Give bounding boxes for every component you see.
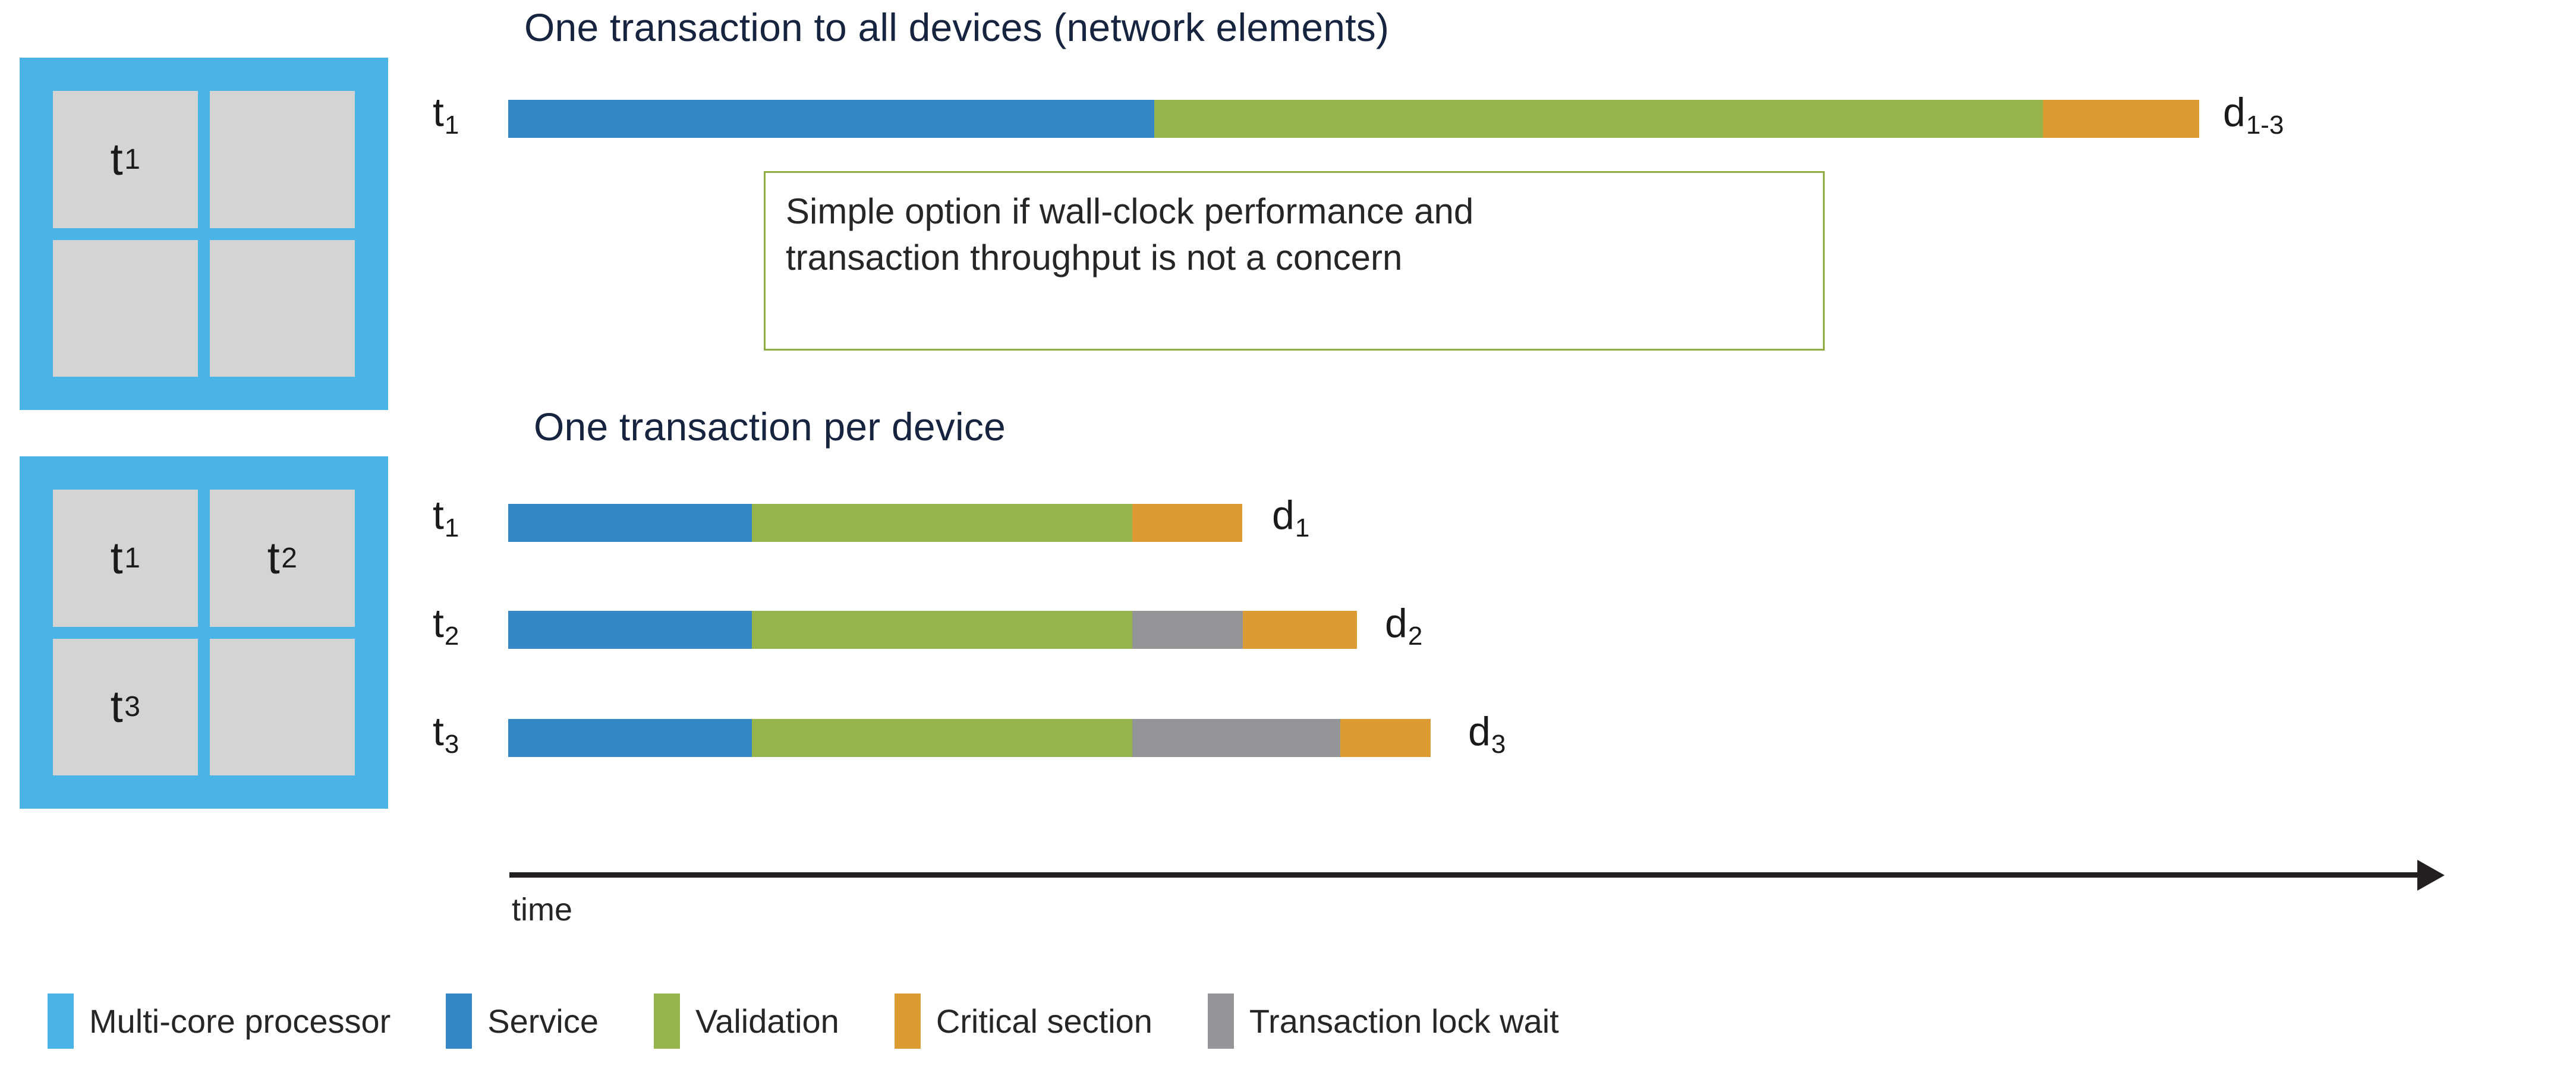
bar-segment-critical-section: [1340, 719, 1431, 757]
cpu-core: t1: [53, 91, 198, 228]
legend-label: Multi-core processor: [89, 1002, 391, 1040]
legend-swatch-service: [446, 993, 472, 1049]
legend: Multi-core processor Service Validation …: [48, 993, 1559, 1049]
timeline-end-label-d3: d3: [1468, 708, 1506, 759]
timeline-bar-t1: [508, 504, 1242, 542]
section-heading-all-devices: One transaction to all devices (network …: [524, 5, 1389, 50]
legend-item-validation: Validation: [654, 993, 839, 1049]
cpu-core: [210, 240, 355, 377]
legend-label: Validation: [695, 1002, 839, 1040]
cpu-core-label-subscript: 3: [124, 690, 140, 723]
cpu-core-label: t: [267, 532, 281, 584]
bar-segment-service: [508, 100, 1154, 138]
timeline-row-label-t3: t3: [433, 708, 459, 759]
bar-segment-critical-section: [2043, 100, 2199, 138]
cpu-core-label-subscript: 1: [124, 542, 140, 575]
row-label-text: t: [433, 601, 444, 646]
legend-item-multi-core-processor: Multi-core processor: [48, 993, 391, 1049]
timeline-row-label-t2: t2: [433, 600, 459, 651]
end-label-subscript: 1-3: [2246, 111, 2284, 140]
bar-segment-critical-section: [1243, 611, 1357, 649]
end-label-text: d: [2223, 90, 2246, 135]
legend-item-service: Service: [446, 993, 599, 1049]
legend-item-critical-section: Critical section: [895, 993, 1152, 1049]
end-label-subscript: 3: [1491, 730, 1506, 759]
cpu-core-label-subscript: 1: [124, 143, 140, 176]
time-axis-label: time: [512, 891, 572, 928]
bar-segment-transaction-lock-wait: [1132, 611, 1243, 649]
callout-text: Simple option if wall-clock performance …: [786, 188, 1803, 281]
cpu-core-label: t: [111, 134, 124, 185]
cpu-core-label: t: [111, 532, 124, 584]
cpu-core: [210, 91, 355, 228]
cpu-core: [210, 639, 355, 776]
bar-segment-validation: [752, 504, 1132, 542]
timeline-row-label-t1: t1: [433, 492, 459, 543]
cpu-core: t1: [53, 490, 198, 627]
end-label-subscript: 1: [1295, 513, 1309, 542]
row-label-text: t: [433, 709, 444, 754]
cpu-core-label: t: [111, 681, 124, 733]
timeline-row-label-t1-all: t1: [433, 89, 459, 140]
bar-segment-validation: [752, 719, 1132, 757]
bar-segment-critical-section: [1132, 504, 1242, 542]
cpu-core: t2: [210, 490, 355, 627]
end-label-text: d: [1272, 493, 1295, 538]
cpu-block-single-transaction: t1: [20, 58, 388, 410]
legend-swatch-critical-section: [895, 993, 921, 1049]
legend-swatch-multi-core-processor: [48, 993, 74, 1049]
cpu-core: t3: [53, 639, 198, 776]
time-axis-line: [509, 872, 2429, 878]
bar-segment-service: [508, 719, 752, 757]
timeline-end-label-d2: d2: [1385, 600, 1422, 651]
legend-label: Service: [487, 1002, 599, 1040]
timeline-end-label-d1: d1: [1272, 492, 1309, 543]
row-label-subscript: 1: [445, 513, 459, 542]
legend-item-transaction-lock-wait: Transaction lock wait: [1208, 993, 1559, 1049]
timeline-bar-t1-all: [508, 100, 2199, 138]
timeline-bar-t2: [508, 611, 1357, 649]
row-label-subscript: 1: [445, 111, 459, 140]
bar-segment-service: [508, 504, 752, 542]
row-label-text: t: [433, 493, 444, 538]
time-axis-arrowhead-icon: [2417, 860, 2445, 891]
bar-segment-validation: [752, 611, 1132, 649]
slide-canvas: t1 t1 t2 t3 One transaction to all devic…: [0, 0, 2576, 1085]
timeline-bar-t3: [508, 719, 1431, 757]
timeline-end-label-d1-3: d1-3: [2223, 89, 2284, 140]
bar-segment-transaction-lock-wait: [1132, 719, 1340, 757]
bar-segment-validation: [1154, 100, 2043, 138]
row-label-subscript: 2: [445, 622, 459, 651]
legend-swatch-validation: [654, 993, 680, 1049]
end-label-text: d: [1468, 709, 1491, 754]
cpu-core: [53, 240, 198, 377]
end-label-subscript: 2: [1408, 622, 1422, 651]
section-heading-per-device: One transaction per device: [534, 404, 1006, 449]
callout-box: Simple option if wall-clock performance …: [764, 171, 1825, 351]
row-label-text: t: [433, 90, 444, 135]
cpu-core-label-subscript: 2: [281, 542, 297, 575]
bar-segment-service: [508, 611, 752, 649]
legend-swatch-transaction-lock-wait: [1208, 993, 1234, 1049]
cpu-block-per-device: t1 t2 t3: [20, 456, 388, 809]
row-label-subscript: 3: [445, 730, 459, 759]
end-label-text: d: [1385, 601, 1407, 646]
legend-label: Transaction lock wait: [1249, 1002, 1559, 1040]
legend-label: Critical section: [936, 1002, 1152, 1040]
